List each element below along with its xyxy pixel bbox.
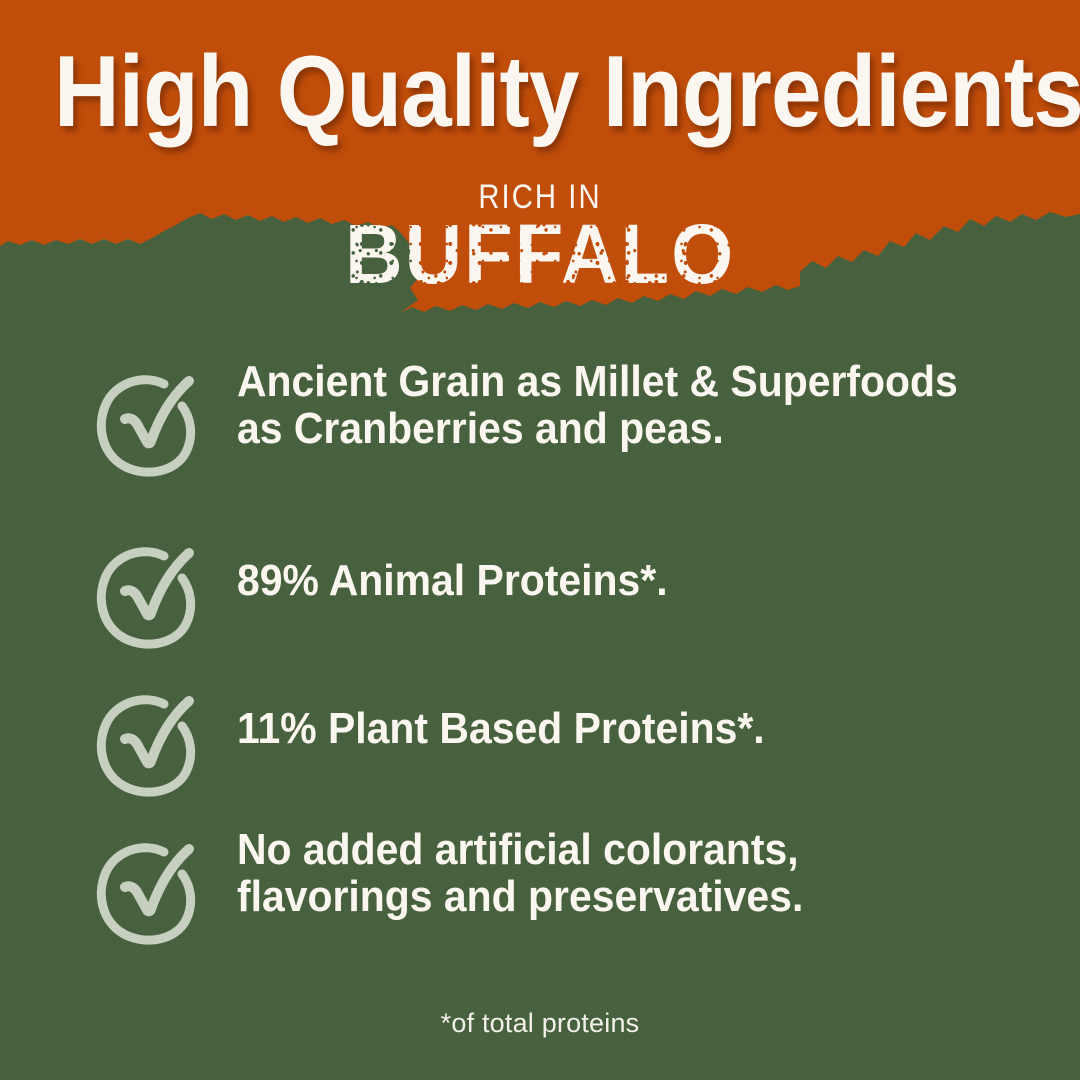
page-title: High Quality Ingredients bbox=[54, 42, 1026, 143]
banner-content: High Quality Ingredients RICH IN BUFFALO bbox=[0, 0, 1080, 330]
list-item-label: 89% Animal Proteins*. bbox=[237, 557, 668, 604]
ingredients-poster: High Quality Ingredients RICH IN BUFFALO… bbox=[0, 0, 1080, 1080]
list-item-label: No added artificial colorants, flavoring… bbox=[237, 826, 803, 920]
check-circle-icon bbox=[92, 682, 212, 802]
list-item: No added artificial colorants, flavoring… bbox=[92, 820, 846, 950]
list-item: 89% Animal Proteins*. bbox=[92, 524, 700, 654]
check-circle-icon bbox=[92, 362, 212, 482]
check-circle-icon bbox=[92, 830, 212, 950]
list-item: Ancient Grain as Millet & Superfoods as … bbox=[92, 352, 1012, 482]
check-circle-icon bbox=[92, 534, 212, 654]
list-item-label: 11% Plant Based Proteins*. bbox=[237, 705, 765, 752]
footnote-text: *of total proteins bbox=[0, 1008, 1080, 1039]
list-item: 11% Plant Based Proteins*. bbox=[92, 672, 804, 802]
list-item-label: Ancient Grain as Millet & Superfoods as … bbox=[237, 358, 958, 452]
protein-name: BUFFALO bbox=[27, 212, 1053, 296]
